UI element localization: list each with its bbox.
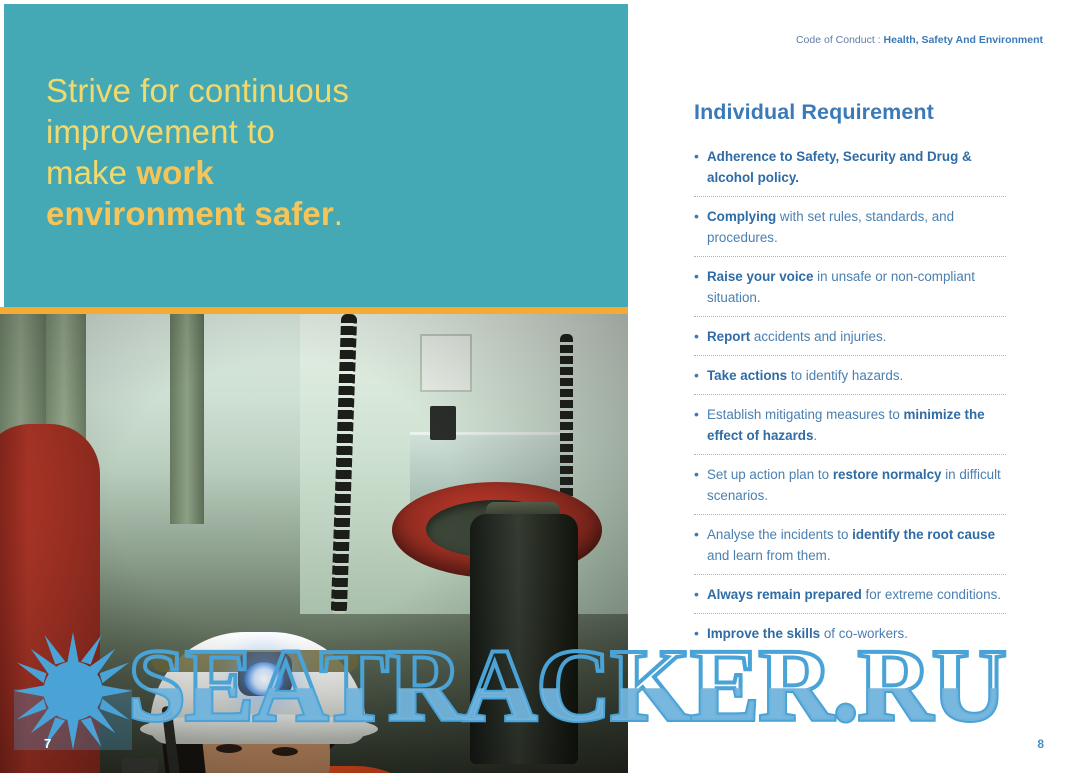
requirement-item: Report accidents and injuries.: [694, 326, 1006, 356]
requirement-item: Adherence to Safety, Security and Drug &…: [694, 146, 1006, 197]
requirement-bold-text: Complying: [707, 209, 776, 224]
page-spread: Strive for continuous improvement to mak…: [0, 0, 1080, 773]
requirement-regular-text: for extreme conditions.: [862, 587, 1001, 602]
requirement-item: Improve the skills of co-workers.: [694, 623, 1006, 652]
requirement-regular-text: Analyse the incidents to: [707, 527, 852, 542]
teal-quote-panel: Strive for continuous improvement to mak…: [4, 4, 628, 307]
requirement-bold-text: Adherence to Safety, Security and Drug &…: [707, 149, 972, 185]
requirement-regular-text: .: [813, 428, 817, 443]
requirement-regular-text: of co-workers.: [820, 626, 908, 641]
running-head-title: Health, Safety And Environment: [884, 34, 1043, 46]
headline-line-1: Strive for continuous: [46, 72, 349, 109]
requirement-bold-text: restore normalcy: [833, 467, 942, 482]
requirement-item: Establish mitigating measures to minimiz…: [694, 404, 1006, 455]
section-title: Individual Requirement: [694, 100, 934, 125]
page-number-left: 7: [44, 736, 51, 751]
requirement-bold-text: Always remain prepared: [707, 587, 862, 602]
photo-vignette: [0, 314, 628, 773]
headline-line-3-bold: work: [136, 154, 213, 191]
requirement-regular-text: to identify hazards.: [787, 368, 903, 383]
requirement-regular-text: Establish mitigating measures to: [707, 407, 904, 422]
requirements-list: Adherence to Safety, Security and Drug &…: [694, 146, 1006, 661]
page-number-right: 8: [1037, 737, 1044, 751]
requirement-bold-text: Raise your voice: [707, 269, 813, 284]
requirement-bold-text: Improve the skills: [707, 626, 820, 641]
requirement-regular-text: and learn from them.: [707, 548, 831, 563]
requirement-regular-text: accidents and injuries.: [750, 329, 886, 344]
running-head-prefix: Code of Conduct :: [796, 34, 884, 46]
engine-room-photo: [0, 314, 628, 773]
headline-period: .: [334, 195, 343, 232]
requirement-regular-text: Set up action plan to: [707, 467, 833, 482]
headline-line-3-regular: make: [46, 154, 136, 191]
requirement-item: Always remain prepared for extreme condi…: [694, 584, 1006, 614]
headline-line-4-bold: environment safer: [46, 195, 334, 232]
requirement-bold-text: identify the root cause: [852, 527, 995, 542]
requirement-item: Set up action plan to restore normalcy i…: [694, 464, 1006, 515]
right-page: Code of Conduct : Health, Safety And Env…: [628, 0, 1080, 773]
headline-quote: Strive for continuous improvement to mak…: [46, 70, 566, 234]
requirement-item: Take actions to identify hazards.: [694, 365, 1006, 395]
left-page: Strive for continuous improvement to mak…: [0, 0, 628, 773]
requirement-item: Complying with set rules, standards, and…: [694, 206, 1006, 257]
requirement-item: Raise your voice in unsafe or non-compli…: [694, 266, 1006, 317]
requirement-item: Analyse the incidents to identify the ro…: [694, 524, 1006, 575]
yellow-divider-bar: [0, 307, 628, 314]
running-head: Code of Conduct : Health, Safety And Env…: [796, 34, 1043, 46]
requirement-bold-text: Report: [707, 329, 750, 344]
headline-line-2: improvement to: [46, 113, 275, 150]
requirement-bold-text: Take actions: [707, 368, 787, 383]
